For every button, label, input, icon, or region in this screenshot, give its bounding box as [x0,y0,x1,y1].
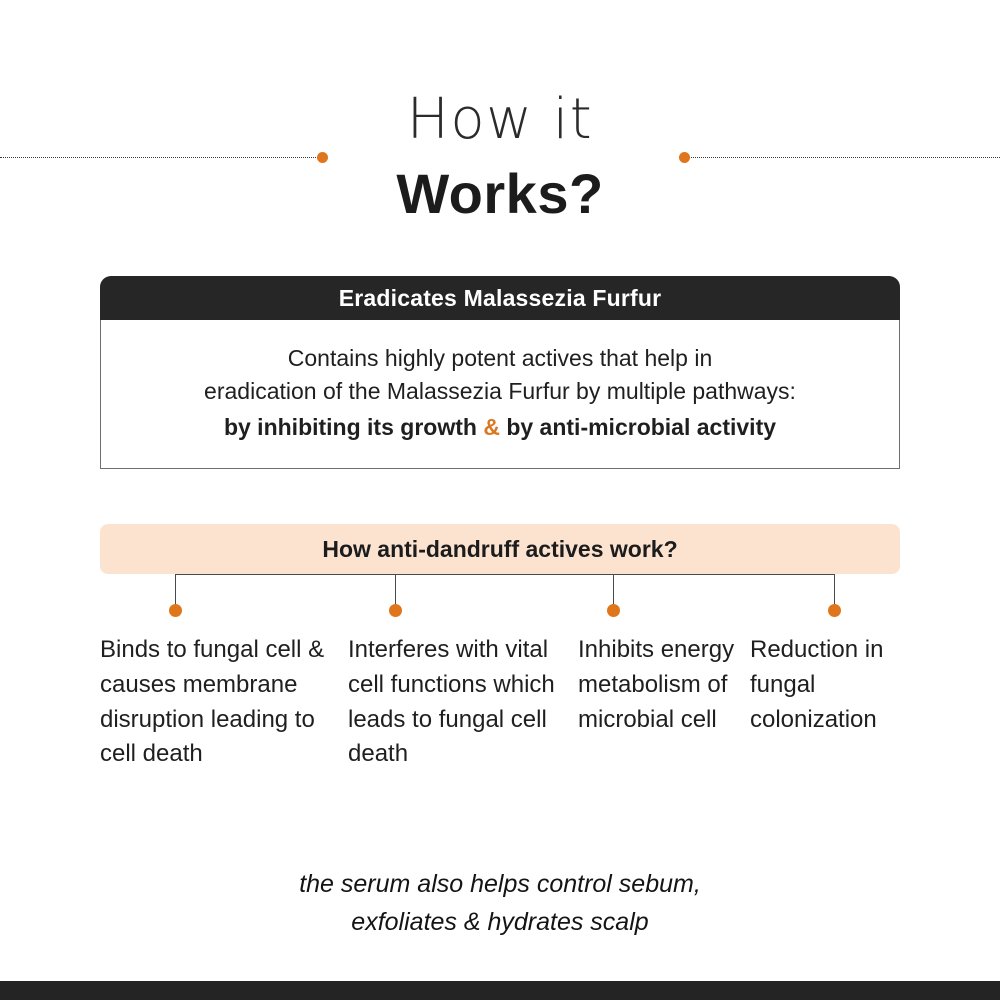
connector-dot-2-icon [389,604,402,617]
ampersand-accent: & [483,414,500,440]
card-line3-part2: by anti-microbial activity [500,414,776,440]
card-body-line-2: eradication of the Malassezia Furfur by … [119,375,881,408]
connector-dot-1-icon [169,604,182,617]
bottom-bar [0,981,1000,1000]
actives-banner: How anti-dandruff actives work? [100,524,900,574]
connector-dot-3-icon [607,604,620,617]
footer-note-line-2: exfoliates & hydrates scalp [0,904,1000,942]
card-body-line-3: by inhibiting its growth & by anti-micro… [119,411,881,444]
mechanism-columns: Binds to fungal cell & causes membrane d… [100,633,920,772]
connector-dot-4-icon [828,604,841,617]
card-header-title: Eradicates Malassezia Furfur [100,276,900,320]
footer-note-line-1: the serum also helps control sebum, [0,866,1000,904]
infographic-page: How it Works? Eradicates Malassezia Furf… [0,0,1000,1000]
decorative-rule-left [0,157,322,159]
title-line-1: How it [0,92,1000,148]
card-line3-part1: by inhibiting its growth [224,414,483,440]
mechanism-column-2: Interferes with vital cell functions whi… [348,633,578,772]
title-line-2: Works? [0,166,1000,222]
mechanism-column-1: Binds to fungal cell & causes membrane d… [100,633,348,772]
mechanism-column-3: Inhibits energy metabolism of microbial … [578,633,750,772]
actives-banner-label: How anti-dandruff actives work? [322,536,677,563]
rule-dot-left-icon [317,152,328,163]
card-body: Contains highly potent actives that help… [100,320,900,469]
connector-horizontal-line [175,574,834,575]
mechanism-column-4: Reduction in fungal colonization [750,633,920,772]
decorative-rule-right [684,157,1000,159]
eradicates-card: Eradicates Malassezia Furfur Contains hi… [100,276,900,469]
footer-note: the serum also helps control sebum, exfo… [0,866,1000,941]
card-body-line-1: Contains highly potent actives that help… [119,342,881,375]
rule-dot-right-icon [679,152,690,163]
